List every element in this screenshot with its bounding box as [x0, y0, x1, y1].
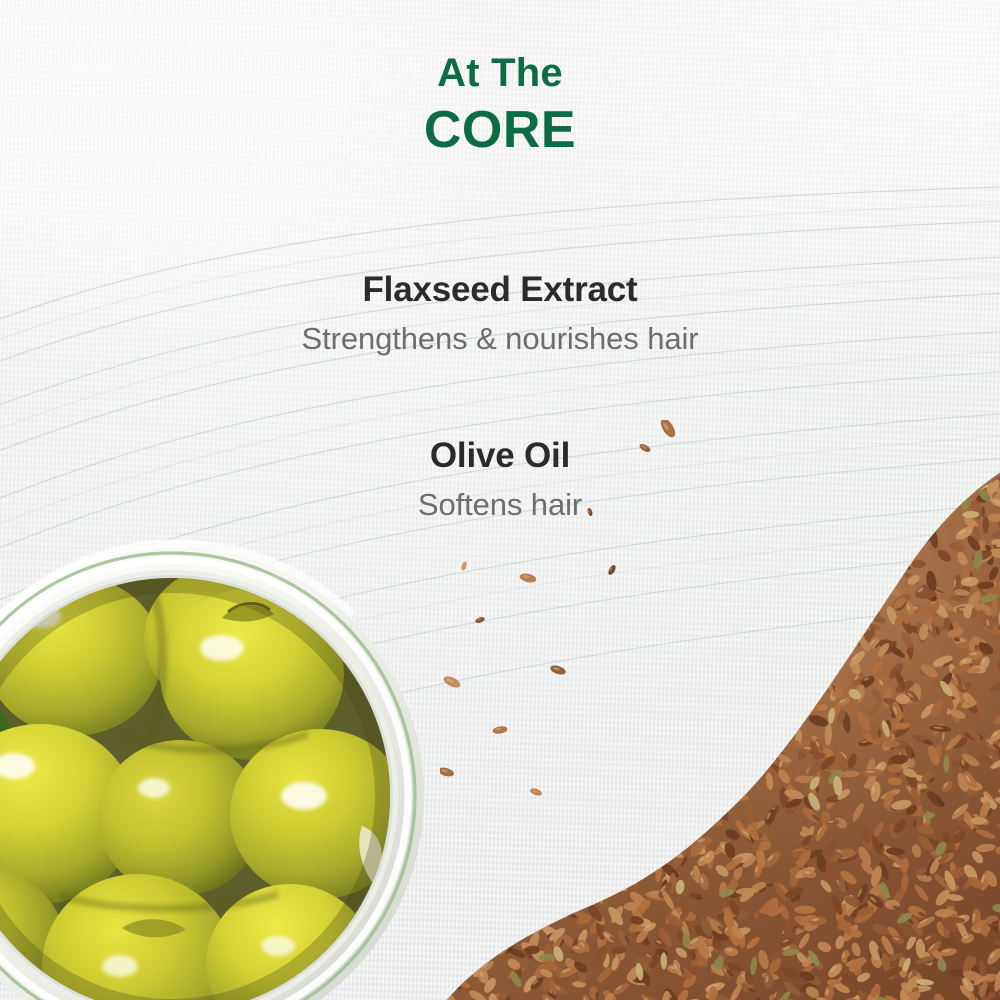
flaxseed — [524, 748, 547, 763]
flaxseed — [758, 697, 773, 715]
flaxseed — [873, 544, 889, 562]
flaxseed — [808, 678, 821, 694]
flaxseed — [587, 559, 600, 576]
flaxseed — [688, 598, 698, 619]
flaxseed — [540, 668, 547, 672]
flaxseed — [828, 623, 835, 632]
flaxseed — [667, 550, 688, 561]
flaxseed — [790, 617, 793, 625]
flaxseed — [518, 822, 529, 837]
flaxseed — [719, 621, 727, 628]
flaxseed — [440, 595, 455, 614]
flaxseed — [555, 589, 568, 609]
flaxseed — [835, 628, 850, 650]
flaxseed — [495, 743, 507, 762]
flaxseed — [440, 638, 451, 659]
flaxseed — [607, 709, 623, 723]
flaxseed — [759, 744, 769, 748]
flaxseed — [728, 708, 744, 719]
flaxseed — [709, 670, 728, 692]
flaxseed — [440, 902, 443, 922]
flaxseed — [737, 555, 748, 575]
flaxseed — [900, 554, 909, 557]
flaxseed — [677, 528, 686, 536]
flaxseed — [713, 762, 722, 766]
flaxseed — [561, 796, 581, 811]
flaxseed — [450, 788, 461, 808]
flaxseed — [473, 531, 495, 544]
flaxseed — [564, 836, 584, 853]
flaxseed — [518, 811, 529, 816]
flaxseed — [936, 420, 945, 429]
flaxseed — [538, 699, 558, 715]
flaxseed — [669, 678, 685, 689]
flaxseed — [530, 767, 538, 775]
flaxseed — [758, 685, 771, 701]
flaxseed — [442, 797, 449, 800]
flaxseed — [569, 891, 580, 899]
flaxseed — [744, 620, 756, 636]
flaxseed — [492, 561, 508, 576]
flaxseed — [486, 575, 502, 590]
flaxseed — [801, 564, 805, 574]
flaxseed — [540, 875, 550, 892]
flaxseed — [695, 566, 711, 580]
flaxseed — [816, 644, 825, 649]
flaxseed — [491, 794, 509, 805]
flaxseed — [528, 832, 543, 841]
flaxseed — [627, 876, 633, 881]
flaxseed — [500, 902, 509, 909]
flaxseed — [832, 557, 837, 565]
flaxseed — [860, 602, 874, 618]
flaxseed — [485, 524, 500, 540]
flaxseed — [576, 562, 597, 579]
flaxseed — [762, 659, 783, 674]
flaxseed — [839, 420, 857, 424]
flaxseed — [468, 945, 484, 961]
flaxseed — [596, 653, 603, 663]
flaxseed — [708, 607, 714, 614]
flaxseed — [525, 560, 541, 575]
flaxseed — [530, 704, 540, 724]
flaxseed — [457, 949, 463, 956]
flaxseed — [469, 642, 484, 657]
flaxseed — [538, 420, 543, 421]
flaxseed — [664, 665, 687, 681]
flaxseed — [526, 945, 540, 954]
flaxseed — [497, 849, 519, 868]
flaxseed — [678, 774, 694, 790]
flaxseed — [458, 598, 466, 606]
flaxseed — [443, 714, 462, 734]
flaxseed — [720, 613, 737, 622]
flaxseed — [469, 420, 489, 428]
flaxseed — [677, 541, 688, 558]
flaxseed — [504, 795, 513, 804]
flaxseed — [774, 699, 786, 717]
flaxseed — [452, 592, 465, 615]
flaxseed — [555, 786, 575, 808]
flaxseed — [802, 669, 822, 690]
flaxseed — [833, 420, 852, 429]
flaxseed — [593, 796, 615, 812]
flaxseed — [529, 745, 548, 762]
flaxseed — [659, 627, 675, 635]
flaxseed — [450, 596, 469, 605]
flaxseed — [546, 789, 553, 792]
flaxseed — [664, 745, 672, 747]
flaxseed — [868, 525, 889, 540]
flaxseed — [693, 559, 700, 563]
flaxseed — [489, 732, 509, 750]
flaxseed — [469, 578, 485, 594]
flaxseed — [521, 420, 531, 426]
flaxseed — [571, 697, 580, 705]
flaxseed — [745, 563, 763, 581]
flaxseed — [652, 556, 673, 571]
flaxseed — [634, 610, 654, 618]
flaxseed — [678, 577, 687, 583]
flaxseed — [533, 825, 545, 840]
flaxseed — [715, 707, 724, 717]
flaxseed — [609, 675, 618, 690]
flaxseed — [766, 582, 786, 601]
flaxseed — [440, 599, 447, 607]
flaxseed — [505, 669, 525, 688]
flaxseed — [539, 850, 557, 865]
ingredient-benefit: Softens hair — [0, 484, 1000, 526]
flaxseed — [667, 647, 686, 667]
flaxseed — [460, 561, 468, 571]
flaxseed — [646, 643, 656, 648]
flaxseed — [671, 619, 682, 638]
flaxseed — [513, 720, 532, 742]
flaxseed — [663, 765, 685, 783]
flaxseed — [633, 646, 655, 657]
flaxseed — [586, 525, 608, 535]
flaxseed — [797, 659, 805, 669]
flaxseed — [440, 789, 449, 808]
flaxseed — [498, 614, 518, 629]
flaxseed — [682, 580, 703, 595]
flaxseed — [693, 752, 700, 757]
flaxseed — [579, 712, 593, 730]
flaxseed — [440, 772, 443, 795]
flaxseed — [717, 597, 720, 603]
flaxseed — [527, 531, 541, 538]
flaxseed — [483, 800, 490, 806]
flaxseed — [519, 600, 539, 615]
flaxseed — [735, 563, 752, 574]
flaxseed — [727, 779, 733, 790]
flaxseed — [637, 740, 658, 759]
flaxseed — [605, 525, 621, 533]
flaxseed — [750, 731, 770, 741]
flaxseed — [591, 871, 614, 891]
flaxseed — [738, 561, 742, 570]
flaxseed — [440, 938, 456, 953]
flaxseed — [823, 650, 842, 671]
flaxseed — [745, 562, 750, 572]
flaxseed — [552, 877, 570, 893]
flaxseed — [441, 861, 462, 877]
flaxseed — [524, 777, 528, 785]
flaxseed — [519, 813, 535, 824]
flaxseed — [726, 535, 740, 554]
flaxseed — [851, 579, 859, 587]
flaxseed — [653, 791, 675, 806]
flaxseed — [739, 534, 752, 553]
flaxseed — [659, 743, 676, 766]
flaxseed — [599, 872, 622, 887]
flaxseed — [661, 744, 680, 751]
flaxseed — [639, 808, 652, 825]
flaxseed — [543, 569, 561, 590]
flaxseed — [533, 840, 545, 861]
flaxseed — [667, 676, 677, 694]
flaxseed — [866, 569, 875, 575]
flaxseed — [443, 885, 452, 901]
flaxseed — [442, 921, 457, 932]
flaxseed — [791, 634, 799, 650]
flaxseed — [615, 553, 624, 560]
flaxseed — [670, 771, 678, 786]
flaxseed — [741, 533, 749, 537]
flaxseed — [698, 747, 717, 761]
flaxseed — [693, 615, 702, 622]
flaxseed — [499, 552, 520, 567]
flaxseed — [462, 848, 480, 857]
flaxseed — [636, 550, 653, 570]
flaxseed — [566, 528, 582, 547]
flaxseed — [604, 639, 620, 648]
flaxseed — [579, 525, 589, 539]
flaxseed — [582, 876, 589, 882]
flaxseed — [600, 691, 611, 711]
flaxseed — [563, 852, 572, 856]
flaxseed — [498, 553, 509, 574]
flaxseed — [576, 752, 584, 759]
flaxseed — [793, 641, 809, 648]
flaxseed — [501, 707, 520, 725]
flaxseed — [622, 696, 642, 710]
flaxseed — [594, 735, 602, 755]
flaxseed — [480, 796, 497, 811]
flaxseed — [537, 798, 559, 815]
flaxseed — [535, 845, 539, 854]
flaxseed — [643, 778, 655, 798]
flaxseed — [447, 971, 456, 976]
flaxseed — [618, 785, 632, 794]
flaxseed — [462, 803, 469, 813]
flaxseed — [788, 651, 805, 672]
flaxseed — [521, 581, 533, 598]
flaxseed — [781, 420, 799, 422]
flaxseed — [581, 793, 585, 803]
flaxseed — [664, 641, 683, 660]
flaxseed — [580, 779, 593, 796]
flaxseed — [499, 806, 503, 813]
flaxseed — [581, 585, 597, 593]
flaxseed — [599, 871, 606, 874]
flaxseed — [747, 667, 765, 678]
flaxseed — [656, 656, 675, 672]
flaxseed — [804, 541, 821, 557]
flaxseed — [701, 789, 709, 811]
flaxseed — [636, 637, 656, 648]
flaxseed — [743, 673, 755, 688]
flaxseed — [520, 921, 524, 931]
flaxseed — [711, 801, 728, 815]
flaxseed — [597, 420, 619, 422]
flaxseed — [517, 623, 525, 641]
flaxseed — [521, 918, 530, 922]
flaxseed — [715, 663, 735, 678]
flaxseed — [555, 600, 575, 621]
flaxseed — [522, 873, 544, 891]
flaxseed — [559, 830, 566, 839]
flaxseed — [465, 592, 474, 597]
flaxseed — [777, 618, 796, 630]
flaxseed — [782, 624, 798, 630]
flaxseed — [782, 625, 801, 633]
flaxseed — [840, 629, 848, 649]
flaxseed — [467, 679, 476, 685]
flaxseed — [739, 590, 753, 610]
flaxseed — [653, 738, 666, 754]
flaxseed — [758, 592, 774, 604]
flaxseed — [460, 679, 475, 690]
flaxseed — [440, 774, 446, 791]
flaxseed — [650, 765, 659, 784]
ingredient-name: Olive Oil — [0, 434, 1000, 478]
flaxseed — [824, 618, 843, 640]
flaxseed — [707, 749, 729, 762]
flaxseed — [765, 692, 771, 699]
flaxseed — [744, 578, 763, 596]
flaxseed — [694, 525, 704, 534]
flaxseed — [602, 758, 621, 768]
flaxseed — [440, 949, 450, 969]
flaxseed — [521, 581, 540, 601]
flaxseed — [524, 877, 537, 898]
flaxseed — [458, 625, 477, 634]
flaxseed — [478, 570, 482, 579]
flaxseed — [740, 615, 756, 632]
flaxseed — [514, 420, 533, 425]
flaxseed — [828, 654, 848, 663]
flaxseed — [681, 605, 702, 617]
flaxseed — [747, 597, 753, 606]
flaxseed — [487, 691, 501, 699]
flaxseed — [487, 685, 497, 690]
flaxseed — [611, 835, 617, 842]
flaxseed — [730, 761, 743, 777]
flaxseed — [960, 424, 979, 434]
flaxseed — [646, 420, 654, 429]
flaxseed — [443, 663, 449, 666]
flaxseed — [523, 603, 541, 620]
flaxseed — [474, 616, 485, 624]
flaxseed — [802, 633, 824, 650]
flaxseed — [690, 420, 707, 428]
ingredient-block-olive-oil: Olive Oil Softens hair — [0, 434, 1000, 526]
flaxseed — [748, 595, 765, 609]
flaxseed — [588, 825, 605, 849]
flaxseed — [512, 644, 526, 661]
flaxseed — [469, 579, 485, 590]
flaxseed — [689, 611, 711, 628]
flaxseed — [692, 719, 712, 733]
flaxseed — [469, 670, 487, 682]
flaxseed — [441, 567, 455, 590]
flaxseed — [827, 420, 841, 425]
flaxseed — [648, 817, 666, 834]
flaxseed — [515, 909, 538, 921]
flaxseed — [531, 708, 534, 717]
flaxseed — [472, 876, 479, 885]
flaxseed — [587, 847, 595, 854]
flaxseed — [772, 672, 781, 688]
flaxseed — [558, 560, 573, 572]
flaxseed — [440, 972, 454, 990]
flaxseed — [442, 545, 460, 564]
flaxseed — [523, 900, 538, 922]
flaxseed — [766, 720, 784, 739]
flaxseed — [499, 591, 519, 604]
flaxseed — [901, 420, 906, 424]
flaxseed — [605, 674, 619, 690]
flaxseed — [941, 420, 957, 425]
flaxseed — [625, 742, 635, 760]
flaxseed — [495, 763, 512, 772]
flaxseed — [580, 803, 590, 812]
flaxseed — [620, 856, 629, 870]
flaxseed — [583, 781, 602, 796]
flaxseed — [624, 656, 631, 663]
flaxseed — [796, 579, 803, 585]
flaxseed — [797, 642, 801, 652]
flaxseed — [778, 420, 794, 430]
flaxseed — [440, 942, 456, 953]
flaxseed — [616, 650, 631, 665]
flaxseed — [670, 701, 684, 723]
flaxseed — [509, 700, 524, 712]
flaxseed — [652, 637, 656, 647]
flaxseed — [548, 697, 562, 717]
flaxseed — [634, 665, 653, 682]
flaxseed — [527, 869, 542, 885]
flaxseed — [813, 616, 822, 633]
flaxseed — [546, 645, 569, 660]
flaxseed — [559, 850, 579, 862]
flaxseed — [705, 699, 724, 721]
flaxseed — [556, 825, 573, 845]
flaxseed — [440, 919, 447, 926]
flaxseed — [477, 566, 488, 587]
flaxseed — [440, 665, 443, 681]
flaxseed — [558, 884, 580, 902]
flaxseed — [670, 553, 679, 557]
flaxseed — [543, 589, 564, 603]
flaxseed — [666, 810, 670, 817]
flaxseed — [824, 662, 831, 672]
flaxseed — [849, 547, 864, 568]
flaxseed — [736, 680, 746, 693]
flaxseed — [584, 837, 592, 852]
flaxseed — [785, 617, 794, 632]
